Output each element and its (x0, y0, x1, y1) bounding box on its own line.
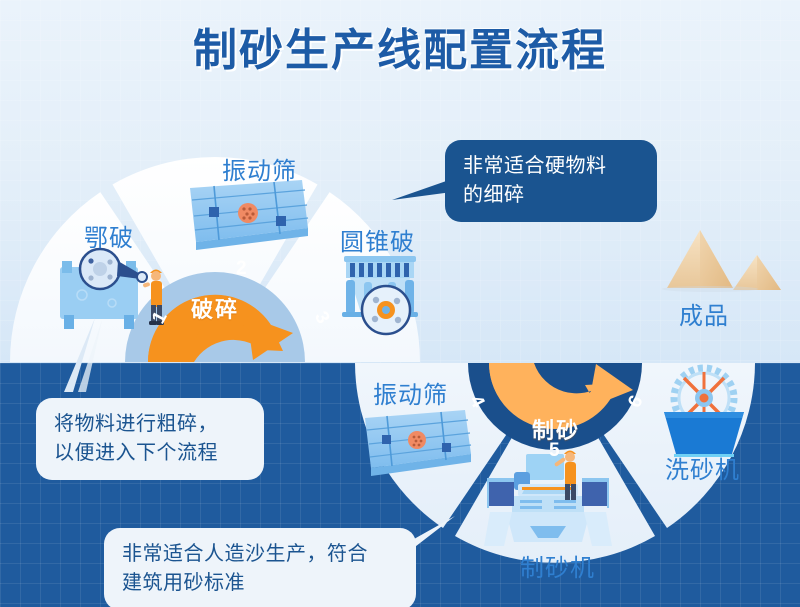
left-arc-label: 破碎 (191, 292, 239, 324)
label-cone-crusher[interactable]: 圆锥破 (340, 222, 415, 257)
sand-pile-icon (662, 230, 781, 292)
vibrating-screen-icon-left (190, 180, 308, 250)
callout-sand-maker[interactable]: 非常适合人造沙生产，符合 建筑用砂标准 (104, 528, 416, 607)
label-vibrating-screen-right[interactable]: 振动筛 (373, 375, 448, 410)
callout-jaw-crusher[interactable]: 将物料进行粗碎， 以便进入下个流程 (36, 398, 264, 480)
infographic-canvas: 制砂生产线配置流程 (0, 0, 800, 607)
label-finished-product[interactable]: 成品 (679, 296, 729, 331)
label-sand-washer[interactable]: 洗砂机 (665, 450, 740, 485)
left-fan-group (10, 157, 420, 362)
sand-washer-icon (664, 368, 744, 457)
step-number-2: 2 (236, 258, 247, 280)
callout-cone-crusher[interactable]: 非常适合硬物料 的细碎 (445, 140, 657, 222)
label-sand-making-machine[interactable]: 制砂机 (520, 548, 595, 583)
label-vibrating-screen-left[interactable]: 振动筛 (222, 151, 297, 186)
label-jaw-crusher[interactable]: 鄂破 (84, 218, 134, 253)
right-arc-label: 制砂 (532, 413, 580, 445)
